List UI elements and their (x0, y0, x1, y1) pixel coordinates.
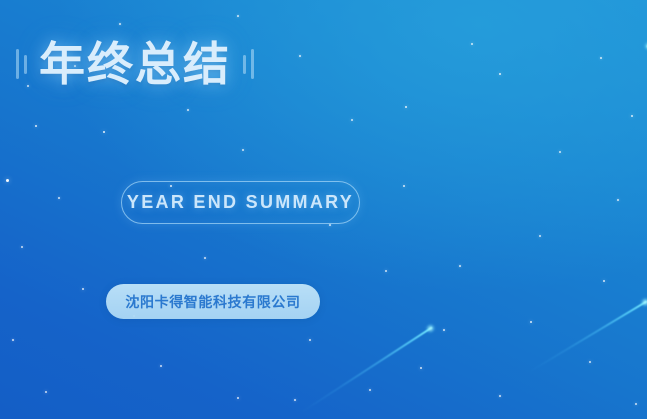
star-icon (459, 265, 461, 267)
tick-mark-icon (243, 55, 246, 74)
star-icon (635, 403, 637, 405)
star-icon (58, 197, 60, 199)
star-icon (309, 339, 311, 341)
star-icon (369, 389, 371, 391)
star-icon (351, 119, 353, 121)
star-icon (385, 270, 387, 272)
star-icon (82, 288, 84, 290)
star-icon (160, 365, 162, 367)
company-badge: 沈阳卡得智能科技有限公司 (106, 284, 320, 319)
star-icon (589, 361, 591, 363)
meteor-bottom-right-icon (530, 300, 647, 372)
star-icon (6, 179, 9, 182)
title-ticks-right (243, 41, 254, 87)
star-icon (35, 125, 37, 127)
subtitle-badge: YEAR END SUMMARY (121, 181, 360, 224)
star-icon (499, 73, 501, 75)
star-icon (103, 131, 106, 134)
tick-mark-icon (251, 49, 254, 79)
star-icon (420, 367, 422, 369)
star-icon (530, 321, 532, 323)
page-title: 年终总结 (27, 41, 243, 87)
star-icon (294, 399, 296, 401)
star-icon (499, 395, 501, 397)
star-icon (329, 224, 331, 226)
star-icon (21, 246, 23, 248)
star-icon (603, 280, 605, 282)
tick-mark-icon (16, 49, 19, 79)
star-icon (471, 43, 473, 45)
slide-canvas: 年终总结 YEAR END SUMMARY 沈阳卡得智能科技有限公司 (0, 0, 647, 419)
company-name-label: 沈阳卡得智能科技有限公司 (125, 292, 300, 312)
star-icon (242, 149, 244, 151)
star-icon (631, 115, 633, 117)
star-icon (443, 329, 445, 331)
star-icon (600, 57, 602, 59)
star-icon (119, 23, 121, 25)
title-ticks-left (16, 41, 27, 87)
title-block: 年终总结 (16, 28, 254, 100)
star-icon (45, 391, 47, 393)
star-icon (204, 257, 206, 259)
star-icon (539, 235, 541, 237)
star-icon (237, 15, 239, 17)
star-icon (559, 151, 561, 153)
star-icon (237, 397, 239, 399)
meteor-bottom-center-icon (301, 326, 433, 413)
subtitle-label: YEAR END SUMMARY (127, 192, 354, 213)
star-icon (403, 185, 405, 187)
star-icon (187, 109, 189, 111)
star-icon (12, 339, 14, 341)
star-icon (299, 55, 301, 57)
star-icon (405, 106, 407, 108)
star-icon (617, 199, 619, 201)
